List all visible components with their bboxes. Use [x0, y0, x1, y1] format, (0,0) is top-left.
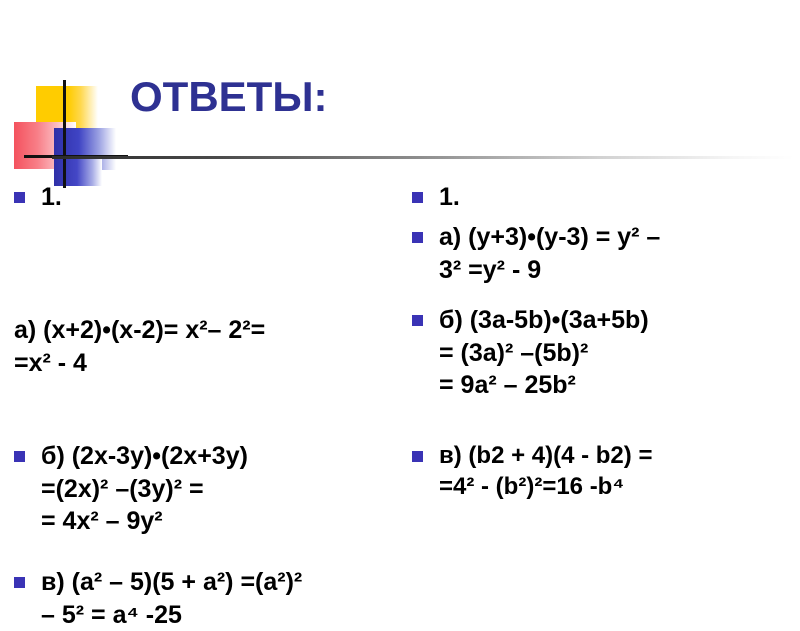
answers-content: 1. а) (x+2)•(x-2)= x²– 2²= =x² - 4 б) (2… — [0, 175, 800, 600]
answer-text-left-v: в) (a² – 5)(5 + a²) =(a²)² – 5² = a⁴ -25 — [14, 566, 302, 631]
answer-text-left-b: б) (2x-3y)•(2x+3y) =(2x)² –(3y)² = = 4x²… — [14, 440, 248, 538]
slide-header: ОТВЕТЫ: — [0, 0, 800, 175]
answer-block-left-v: в) (a² – 5)(5 + a²) =(a²)² – 5² = a⁴ -25 — [14, 566, 302, 631]
answer-block-right-b: б) (3a-5b)•(3a+5b) = (3a)² –(5b)² = 9a² … — [412, 304, 649, 402]
answer-text-left-a: а) (x+2)•(x-2)= x²– 2²= =x² - 4 — [14, 314, 265, 379]
answer-block-left-1: 1. — [14, 181, 62, 214]
answer-block-left-a: а) (x+2)•(x-2)= x²– 2²= =x² - 4 — [14, 314, 265, 379]
bullet-square-icon — [412, 451, 423, 462]
answer-block-right-1: 1. — [412, 181, 460, 214]
answer-text-right-b: б) (3a-5b)•(3a+5b) = (3a)² –(5b)² = 9a² … — [412, 304, 649, 402]
answer-block-right-v: в) (b2 + 4)(4 - b2) = =4² - (b²)²=16 -b⁴ — [412, 440, 652, 502]
bullet-square-icon — [412, 315, 423, 326]
answer-block-left-b: б) (2x-3y)•(2x+3y) =(2x)² –(3y)² = = 4x²… — [14, 440, 248, 538]
bullet-square-icon — [412, 192, 423, 203]
answer-text-right-a: а) (y+3)•(y-3) = y² – 3² =y² - 9 — [412, 221, 660, 286]
bullet-square-icon — [14, 192, 25, 203]
answer-text-right-v: в) (b2 + 4)(4 - b2) = =4² - (b²)²=16 -b⁴ — [412, 440, 652, 502]
page-title: ОТВЕТЫ: — [130, 76, 327, 118]
logo-vertical-line — [63, 80, 66, 188]
bullet-square-icon — [412, 232, 423, 243]
bullet-square-icon — [14, 577, 25, 588]
answer-block-right-a: а) (y+3)•(y-3) = y² – 3² =y² - 9 — [412, 221, 660, 286]
decorative-logo — [14, 80, 124, 180]
bullet-square-icon — [14, 451, 25, 462]
title-divider-rule — [52, 156, 794, 159]
